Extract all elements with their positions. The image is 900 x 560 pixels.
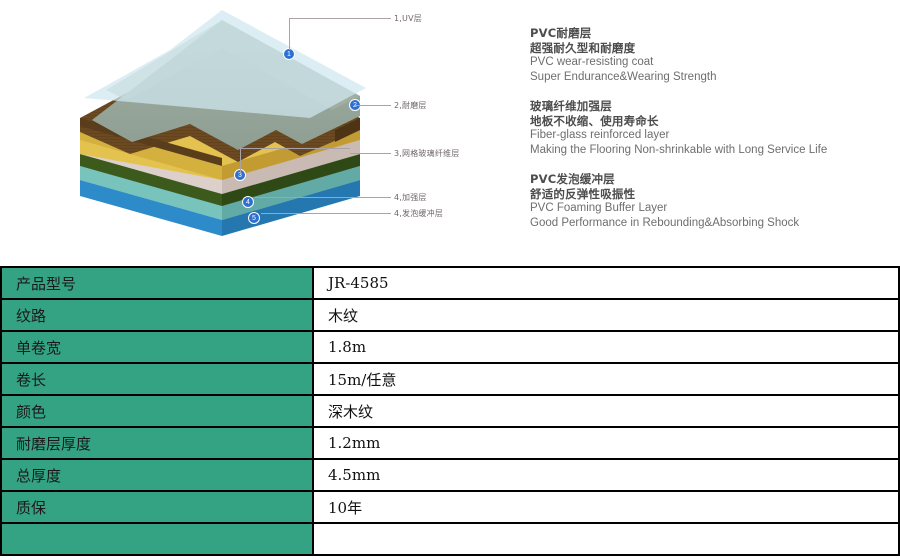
spec-value-0: JR-4585 xyxy=(313,267,899,299)
callout-label-4: 4,加强层 xyxy=(394,192,427,203)
callout-label-3: 3,网格玻璃纤维层 xyxy=(394,148,459,159)
layer-1-cn-title: PVC耐磨层 xyxy=(530,26,880,41)
spec-value-8 xyxy=(313,523,899,555)
spec-key-4: 颜色 xyxy=(1,395,313,427)
layer-2-en-title: Fiber-glass reinforced layer xyxy=(530,128,880,143)
layer-description-block-1: PVC耐磨层 超强耐久型和耐磨度 PVC wear-resisting coat… xyxy=(530,26,880,85)
table-row: 卷长 15m/任意 xyxy=(1,363,899,395)
table-row-partial xyxy=(1,523,899,555)
diagram-marker-5: 5 xyxy=(248,212,260,224)
spec-value-1: 木纹 xyxy=(313,299,899,331)
layer-3-cn-title: PVC发泡缓冲层 xyxy=(530,172,880,187)
leader-line-1 xyxy=(289,18,391,19)
layer-2-en-subtitle: Making the Flooring Non-shrinkable with … xyxy=(530,143,880,158)
spec-key-3: 卷长 xyxy=(1,363,313,395)
spec-value-6: 4.5mm xyxy=(313,459,899,491)
spec-key-7: 质保 xyxy=(1,491,313,523)
layer-2-cn-subtitle: 地板不收缩、使用寿命长 xyxy=(530,114,880,129)
layer-3-en-title: PVC Foaming Buffer Layer xyxy=(530,201,880,216)
layer-3-en-subtitle: Good Performance in Rebounding&Absorbing… xyxy=(530,216,880,231)
leader-line-3-vertical xyxy=(240,148,241,174)
table-row: 耐磨层厚度 1.2mm xyxy=(1,427,899,459)
table-row: 纹路 木纹 xyxy=(1,299,899,331)
spec-value-5: 1.2mm xyxy=(313,427,899,459)
leader-line-2 xyxy=(355,105,391,106)
spec-key-8 xyxy=(1,523,313,555)
layer-description-block-3: PVC发泡缓冲层 舒适的反弹性吸振性 PVC Foaming Buffer La… xyxy=(530,172,880,231)
table-row: 单卷宽 1.8m xyxy=(1,331,899,363)
layer-description-block-2: 玻璃纤维加强层 地板不收缩、使用寿命长 Fiber-glass reinforc… xyxy=(530,99,880,158)
callout-label-5: 4,发泡缓冲层 xyxy=(394,208,443,219)
spec-value-3: 15m/任意 xyxy=(313,363,899,395)
specification-table: 产品型号 JR-4585 纹路 木纹 单卷宽 1.8m 卷长 15m/任意 颜色… xyxy=(0,266,900,556)
leader-line-1-vertical xyxy=(289,18,290,50)
specification-table-body: 产品型号 JR-4585 纹路 木纹 单卷宽 1.8m 卷长 15m/任意 颜色… xyxy=(1,267,899,555)
table-row: 总厚度 4.5mm xyxy=(1,459,899,491)
spec-value-2: 1.8m xyxy=(313,331,899,363)
spec-key-6: 总厚度 xyxy=(1,459,313,491)
table-row: 质保 10年 xyxy=(1,491,899,523)
spec-key-1: 纹路 xyxy=(1,299,313,331)
layer-1-cn-subtitle: 超强耐久型和耐磨度 xyxy=(530,41,880,56)
spec-value-4: 深木纹 xyxy=(313,395,899,427)
leader-line-5 xyxy=(261,213,391,214)
spec-key-0: 产品型号 xyxy=(1,267,313,299)
table-row: 颜色 深木纹 xyxy=(1,395,899,427)
leader-line-4 xyxy=(255,197,391,198)
spec-key-2: 单卷宽 xyxy=(1,331,313,363)
layer-1-en-title: PVC wear-resisting coat xyxy=(530,55,880,70)
spec-key-5: 耐磨层厚度 xyxy=(1,427,313,459)
leader-line-3 xyxy=(350,153,391,154)
product-illustration-section: 1 2 3 4 5 1,UV层 2,耐磨层 3,网格玻璃纤维层 4,加强层 4,… xyxy=(0,0,900,266)
layer-structure-diagram xyxy=(70,4,370,244)
leader-line-3-horizontal xyxy=(240,148,350,149)
layer-2-cn-title: 玻璃纤维加强层 xyxy=(530,99,880,114)
callout-label-2: 2,耐磨层 xyxy=(394,100,427,111)
table-row: 产品型号 JR-4585 xyxy=(1,267,899,299)
layer-3-cn-subtitle: 舒适的反弹性吸振性 xyxy=(530,187,880,202)
layer-1-en-subtitle: Super Endurance&Wearing Strength xyxy=(530,70,880,85)
diagram-marker-4: 4 xyxy=(242,196,254,208)
layer-description-list: PVC耐磨层 超强耐久型和耐磨度 PVC wear-resisting coat… xyxy=(530,26,880,231)
spec-value-7: 10年 xyxy=(313,491,899,523)
callout-label-1: 1,UV层 xyxy=(394,13,422,24)
